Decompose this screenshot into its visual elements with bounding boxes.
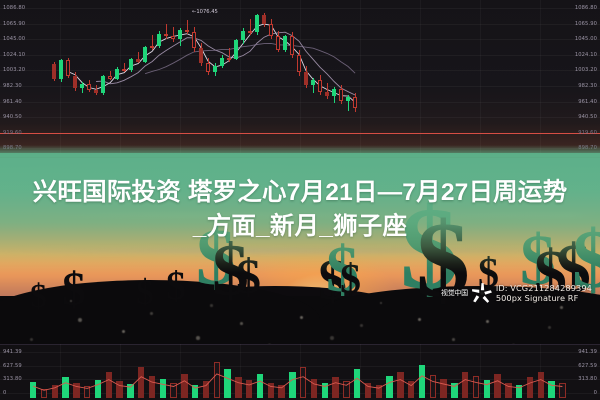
watermark: 视觉中国 ID: VCG211284289394 500px Signature… [441,282,592,304]
volume-axis-label-right: 627.59 [578,363,597,369]
watermark-text: ID: VCG211284289394 500px Signature RF [496,283,592,303]
page-title: 兴旺国际投资 塔罗之心7月21日—7月27日周运势 _方面_新月_狮子座 [0,176,600,244]
watermark-brand-cn: 视觉中国 [441,288,468,298]
volume-axis-label-left: 313.80 [3,376,22,382]
page-title-line-1: 兴旺国际投资 塔罗之心7月21日—7月27日周运势 [33,179,568,206]
price-axis-label-left: 1065.90 [3,21,25,27]
price-axis-label-right: 961.40 [578,99,597,105]
watermark-license: 500px Signature RF [496,293,592,303]
page-title-line-2: _方面_新月_狮子座 [193,213,407,240]
price-axis-label-right: 982.30 [578,83,597,89]
price-axis-label-right: 1003.20 [575,67,597,73]
price-axis-label-right: 1086.80 [575,5,597,11]
price-axis-label-right: 1024.10 [575,52,597,58]
volume-axis-label-right: 313.80 [578,376,597,382]
price-axis-label-right: 1065.90 [575,21,597,27]
volume-axis-label-left: 627.59 [3,363,22,369]
volume-axis-label-right: 0 [594,390,597,396]
price-axis-label-left: 919.60 [3,130,22,136]
price-axis-label-left: 1024.10 [3,52,25,58]
price-axis-label-right: 940.50 [578,114,597,120]
volume-axis-label-left: 0 [3,390,6,396]
screenshot-canvas: $$$$$$$$$$$$$$$$$ /* dollar signs & boke… [0,0,600,400]
watermark-id: ID: VCG211284289394 [496,283,592,293]
price-axis-label-left: 940.50 [3,114,22,120]
price-axis-label-left: 982.30 [3,83,22,89]
price-axis-label-right: 919.60 [578,130,597,136]
price-axis-label-right: 1045.00 [575,36,597,42]
vcg-starburst-icon [471,282,493,304]
price-axis-label-left: 1045.00 [3,36,25,42]
price-axis-label-left: 961.40 [3,99,22,105]
price-axis-label-left: 1086.80 [3,5,25,11]
volume-axis-label-right: 941.39 [578,349,597,355]
price-axis-label-left: 1003.20 [3,67,25,73]
volume-ma-polyline [33,374,562,390]
volume-axis-label-left: 941.39 [3,349,22,355]
